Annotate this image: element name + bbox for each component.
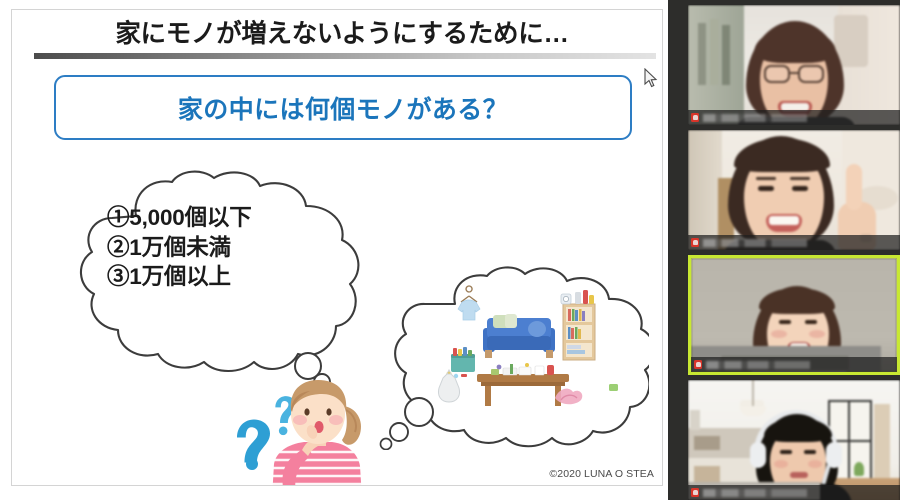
participant-name-blurred (706, 361, 810, 369)
mouse-pointer-icon (644, 68, 658, 88)
answer-options-list: ①5,000個以下 ②1万個未満 ③1万個以上 (107, 203, 337, 292)
participant-video-4 (688, 380, 900, 500)
bookshelf-icon (561, 290, 595, 360)
shared-slide-region: 家にモノが増えないようにするために… 家の中には何個モノがある？ ①5,000個… (0, 0, 668, 500)
participant-namebar-3 (691, 357, 897, 372)
participant-video-1 (688, 5, 900, 125)
participant-namebar-2 (688, 235, 900, 250)
answers-thought-bubble: ①5,000個以下 ②1万個未満 ③1万個以上 (64, 168, 369, 393)
participant-tile-4[interactable] (688, 380, 900, 500)
participant-name-blurred (703, 239, 807, 247)
answer-option-3: ③1万個以上 (107, 262, 337, 292)
thinking-girl-illustration (248, 380, 388, 486)
title-underline-bar (34, 53, 656, 59)
presentation-slide: 家にモノが増えないようにするために… 家の中には何個モノがある？ ①5,000個… (11, 9, 663, 486)
mute-icon (691, 113, 699, 122)
question-text: 家の中には何個モノがある？ (178, 90, 508, 126)
participant-video-2 (688, 130, 900, 250)
question-callout-box: 家の中には何個モノがある？ (54, 75, 632, 140)
answer-option-2: ②1万個未満 (107, 233, 337, 263)
answer-option-1: ①5,000個以下 (107, 203, 337, 233)
mute-icon (694, 360, 702, 369)
participant-namebar-4 (688, 485, 900, 500)
participant-name-blurred (703, 114, 807, 122)
participant-video-3 (691, 258, 897, 372)
copyright-notice: ©2020 LUNA O STEA (549, 468, 654, 480)
participant-tile-1[interactable] (688, 5, 900, 125)
mute-icon (691, 238, 699, 247)
slide-title: 家にモノが増えないようにするために… (42, 17, 642, 51)
participant-filmstrip (668, 0, 900, 500)
room-bubble-outline (377, 260, 649, 450)
mute-icon (691, 488, 699, 497)
participant-tile-3[interactable] (688, 255, 900, 375)
screen-share-window: 家にモノが増えないようにするために… 家の中には何個モノがある？ ①5,000個… (0, 0, 900, 500)
participant-name-blurred (703, 489, 807, 497)
green-item-icon (609, 384, 618, 391)
participant-tile-2[interactable] (688, 130, 900, 250)
participant-namebar-1 (688, 110, 900, 125)
cluttered-room-thought-bubble (377, 260, 649, 450)
